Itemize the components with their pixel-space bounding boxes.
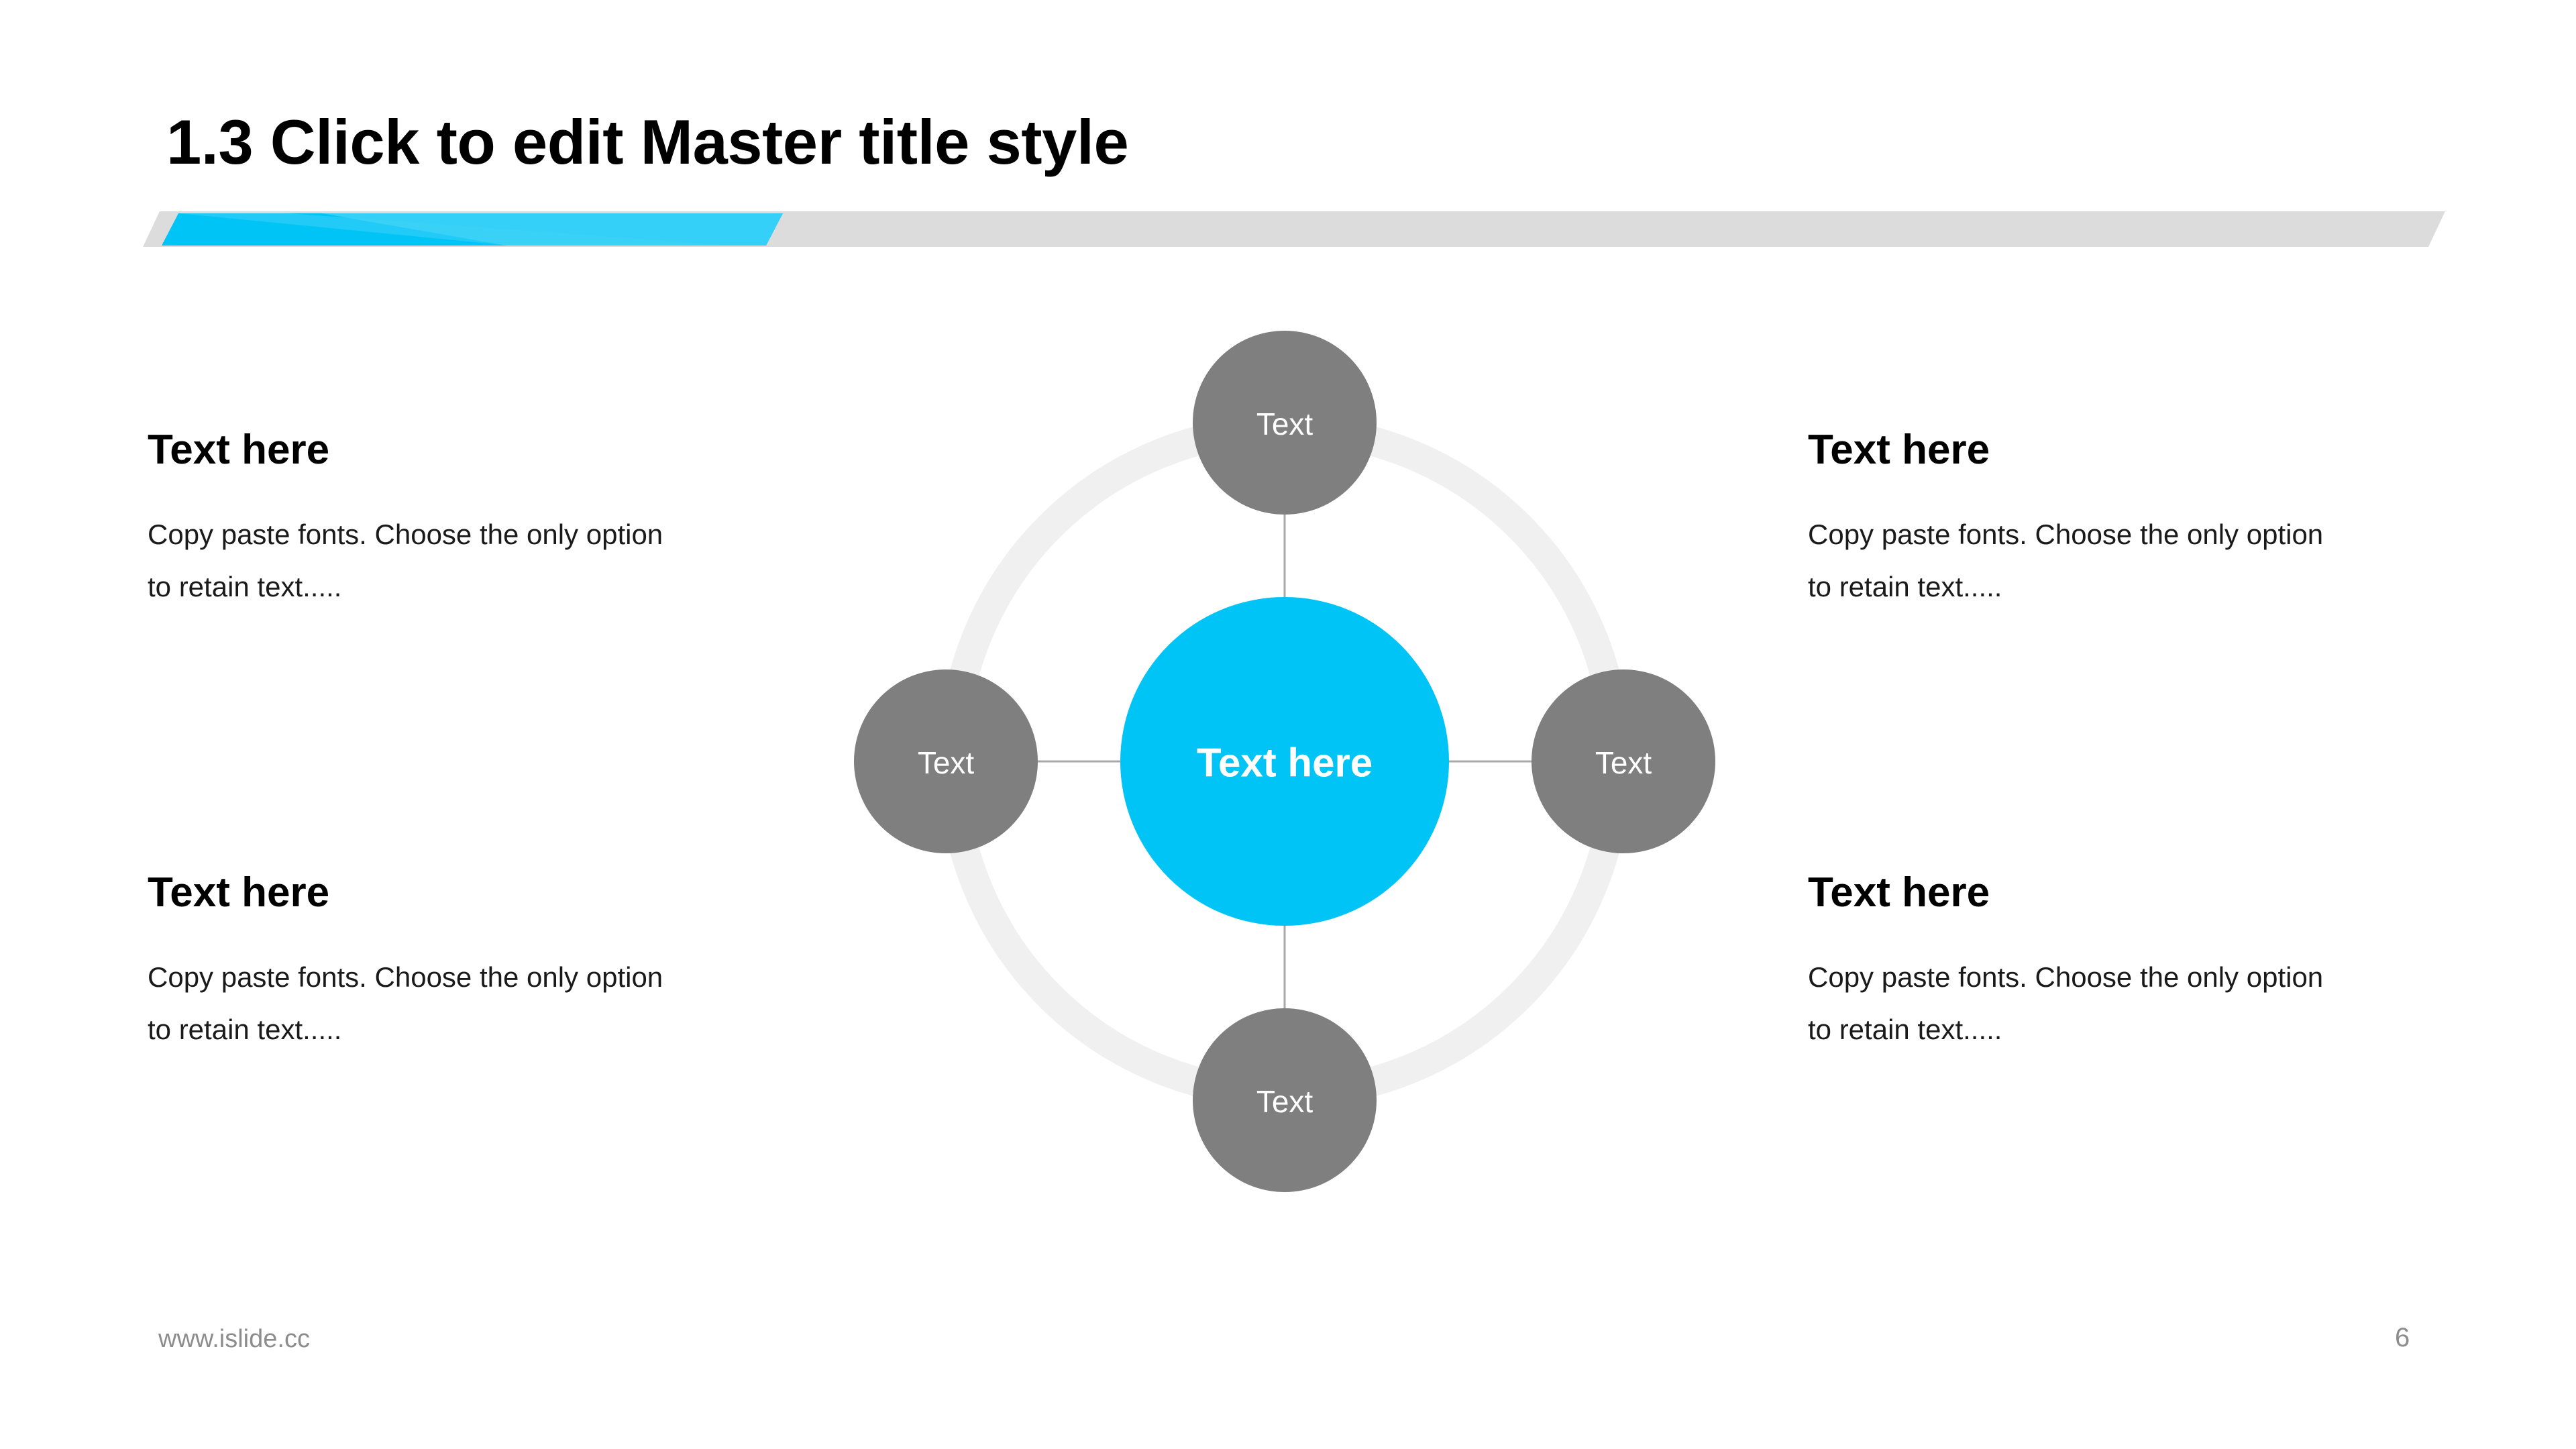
text-block-top-left: Text here Copy paste fonts. Choose the o… xyxy=(148,429,751,612)
circle-diagram: Text here Text Text Text Text xyxy=(782,258,1788,1265)
text-block-bottom-right-body-line2: to retain text..... xyxy=(1808,1004,2412,1056)
text-block-bottom-right-body: Copy paste fonts. Choose the only option… xyxy=(1808,951,2412,1055)
text-block-bottom-left-body-line1: Copy paste fonts. Choose the only option xyxy=(148,951,751,1004)
text-block-top-left-body-line2: to retain text..... xyxy=(148,561,751,613)
text-block-bottom-left-body: Copy paste fonts. Choose the only option… xyxy=(148,951,751,1055)
footer-url[interactable]: www.islide.cc xyxy=(158,1325,310,1354)
divider-svg xyxy=(0,201,2576,262)
text-block-bottom-left-body-line2: to retain text..... xyxy=(148,1004,751,1056)
diagram-node-bottom[interactable] xyxy=(1193,1008,1377,1192)
text-block-top-left-body-line1: Copy paste fonts. Choose the only option xyxy=(148,508,751,561)
text-block-top-right-body-line2: to retain text..... xyxy=(1808,561,2412,613)
text-block-top-right-body-line1: Copy paste fonts. Choose the only option xyxy=(1808,508,2412,561)
slide-canvas: 1.3 Click to edit Master title style xyxy=(0,0,2576,1449)
page-title: 1.3 Click to edit Master title style xyxy=(166,107,1128,176)
text-block-bottom-right: Text here Copy paste fonts. Choose the o… xyxy=(1808,872,2412,1055)
text-block-top-right-body: Copy paste fonts. Choose the only option… xyxy=(1808,508,2412,612)
footer-page-number: 6 xyxy=(2395,1323,2410,1353)
text-block-top-left-body: Copy paste fonts. Choose the only option… xyxy=(148,508,751,612)
text-block-bottom-left-heading: Text here xyxy=(148,872,751,914)
text-block-top-right: Text here Copy paste fonts. Choose the o… xyxy=(1808,429,2412,612)
diagram-svg xyxy=(782,258,1788,1265)
diagram-hub-circle[interactable] xyxy=(1120,597,1449,926)
title-divider-bar xyxy=(0,201,2576,262)
diagram-node-right[interactable] xyxy=(1532,669,1715,853)
text-block-bottom-left: Text here Copy paste fonts. Choose the o… xyxy=(148,872,751,1055)
text-block-top-left-heading: Text here xyxy=(148,429,751,471)
diagram-node-top[interactable] xyxy=(1193,331,1377,515)
diagram-node-left[interactable] xyxy=(854,669,1038,853)
text-block-bottom-right-heading: Text here xyxy=(1808,872,2412,914)
text-block-top-right-heading: Text here xyxy=(1808,429,2412,471)
text-block-bottom-right-body-line1: Copy paste fonts. Choose the only option xyxy=(1808,951,2412,1004)
